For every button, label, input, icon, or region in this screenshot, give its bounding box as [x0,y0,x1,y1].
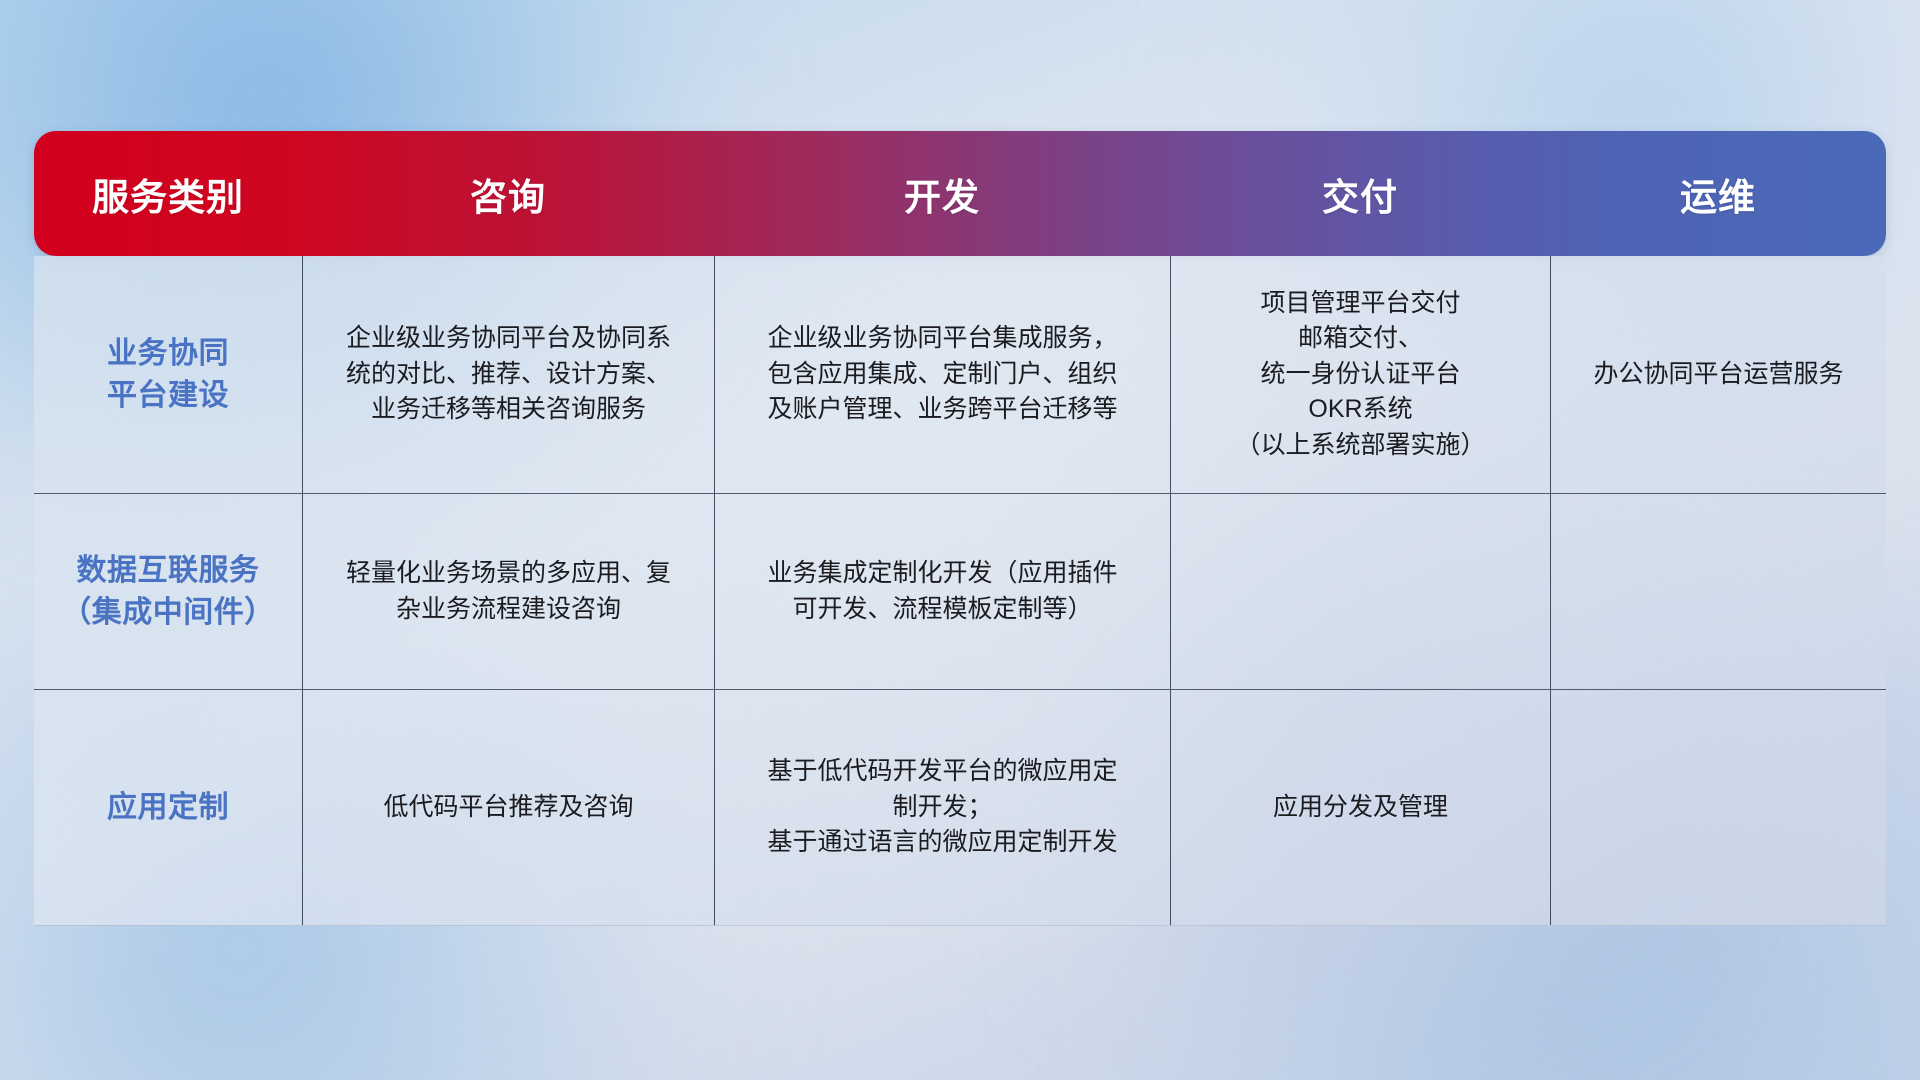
column-header-category: 服务类别 [34,131,302,256]
table-row: 业务协同 平台建设 企业级业务协同平台及协同系 统的对比、推荐、设计方案、 业务… [34,256,1886,493]
column-header-consulting: 咨询 [302,131,714,256]
cell-consulting-0: 企业级业务协同平台及协同系 统的对比、推荐、设计方案、 业务迁移等相关咨询服务 [302,256,714,493]
column-header-delivery: 交付 [1170,131,1550,256]
cell-operations-2 [1550,690,1886,925]
cell-delivery-0: 项目管理平台交付 邮箱交付、 统一身份认证平台 OKR系统 （以上系统部署实施） [1170,256,1550,493]
cell-delivery-1 [1170,494,1550,689]
column-header-operations: 运维 [1550,131,1886,256]
service-matrix-table: 服务类别 咨询 开发 交付 运维 业务协同 平台建设 企业级业务协同平台及协同系… [34,131,1886,926]
cell-development-1: 业务集成定制化开发（应用插件 可开发、流程模板定制等） [714,494,1170,689]
cell-category-1: 数据互联服务 （集成中间件） [34,494,302,689]
cell-operations-1 [1550,494,1886,689]
cell-development-2: 基于低代码开发平台的微应用定 制开发； 基于通过语言的微应用定制开发 [714,690,1170,925]
cell-operations-0: 办公协同平台运营服务 [1550,256,1886,493]
table-row: 应用定制 低代码平台推荐及咨询 基于低代码开发平台的微应用定 制开发； 基于通过… [34,689,1886,925]
column-header-development: 开发 [714,131,1170,256]
table-row: 数据互联服务 （集成中间件） 轻量化业务场景的多应用、复 杂业务流程建设咨询 业… [34,493,1886,689]
cell-category-0: 业务协同 平台建设 [34,256,302,493]
cell-consulting-2: 低代码平台推荐及咨询 [302,690,714,925]
cell-category-2: 应用定制 [34,690,302,925]
cell-delivery-2: 应用分发及管理 [1170,690,1550,925]
cell-consulting-1: 轻量化业务场景的多应用、复 杂业务流程建设咨询 [302,494,714,689]
table-header-row: 服务类别 咨询 开发 交付 运维 [34,131,1886,256]
table-body: 业务协同 平台建设 企业级业务协同平台及协同系 统的对比、推荐、设计方案、 业务… [34,256,1886,926]
cell-development-0: 企业级业务协同平台集成服务， 包含应用集成、定制门户、组织 及账户管理、业务跨平… [714,256,1170,493]
